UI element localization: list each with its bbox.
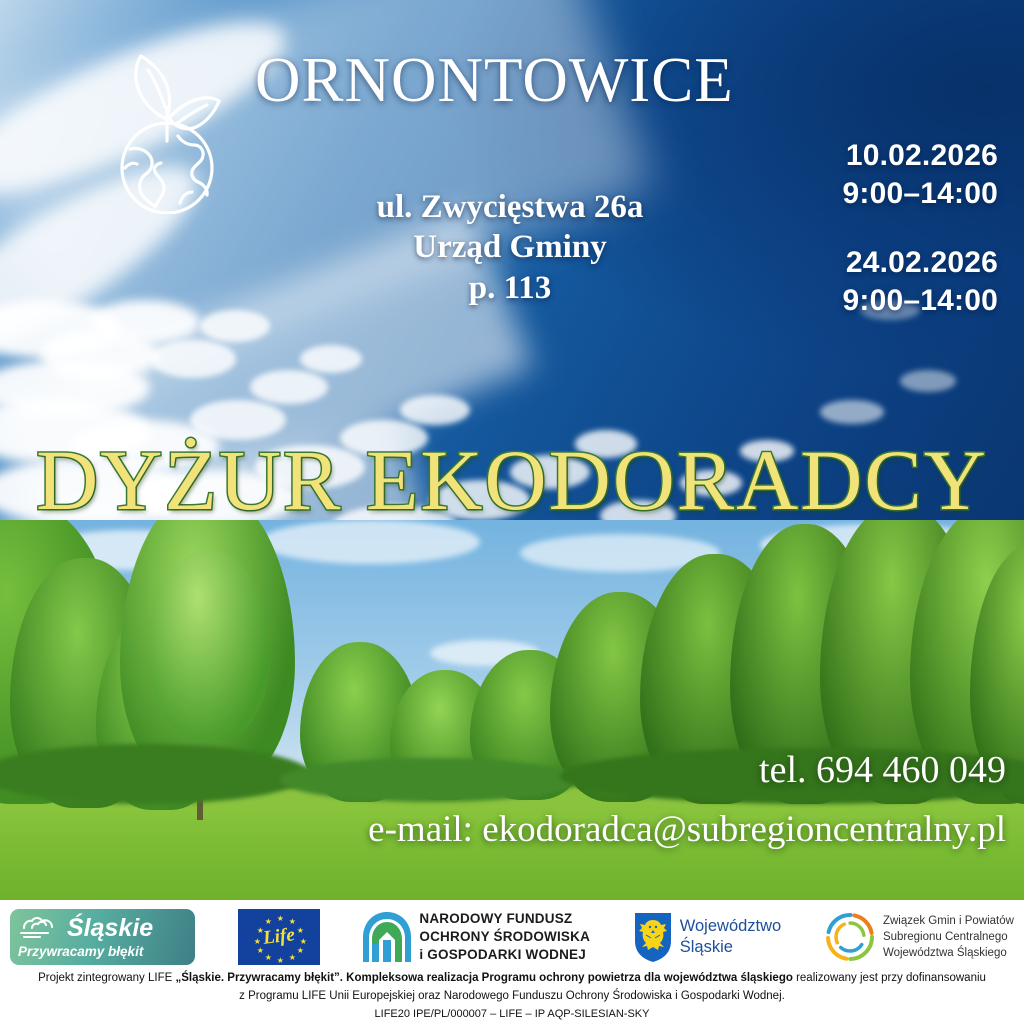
eu-life-logo-name: Life [262,924,296,950]
nfosigw-line-2: OCHRONY ŚRODOWISKA [419,928,590,946]
globe-sprout-icon [108,46,226,214]
schedule-spacer [698,214,998,244]
eu-life-logo: ★ ★ ★ ★ ★ ★ ★ ★ ★ ★ ★ ★ Life [238,909,320,965]
wojewodztwo-line-2: Śląskie [680,937,782,958]
slaskie-logo-name: Śląskie [67,916,153,941]
legal-line-2: z Programu LIFE Unii Europejskiej oraz N… [0,988,1024,1006]
wojewodztwo-line-1: Województwo [680,916,782,937]
address-line-1: ul. Zwycięstwa 26a [300,187,720,227]
logo-strip: Śląskie Przywracamy błękit ★ ★ ★ ★ ★ ★ ★… [0,904,1024,970]
legal-line-1-b: „Śląskie. Przywracamy błękit”. Komplekso… [175,972,792,984]
nfosigw-mark-icon [362,910,412,964]
zwiazek-circle-icon [824,911,876,963]
footer: Śląskie Przywracamy błękit ★ ★ ★ ★ ★ ★ ★… [0,900,1024,1024]
address-line-3: p. 113 [300,268,720,308]
silesian-eagle-shield-icon [633,911,673,963]
address-block: ul. Zwycięstwa 26a Urząd Gminy p. 113 [300,187,720,308]
wojewodztwo-slaskie-logo: Województwo Śląskie [633,911,782,963]
schedule-block: 10.02.2026 9:00–14:00 24.02.2026 9:00–14… [698,137,998,321]
email-address: e-mail: ekodoradca@subregioncentralny.pl [368,808,1006,851]
poster: ORNONTOWICE ul. Zwycięstwa 26a Urząd Gmi… [0,0,1024,1024]
zwiazek-line-2: Subregionu Centralnego [883,929,1014,945]
phone-number: tel. 694 460 049 [759,748,1006,792]
page-title: ORNONTOWICE [255,44,734,117]
schedule-hours-2: 9:00–14:00 [698,282,998,320]
schedule-hours-1: 9:00–14:00 [698,175,998,213]
zwiazek-line-3: Województwa Śląskiego [883,945,1014,961]
address-line-2: Urząd Gminy [300,227,720,267]
zwiazek-gmin-logo: Związek Gmin i Powiatów Subregionu Centr… [824,911,1014,963]
legal-line-1: Projekt zintegrowany LIFE „Śląskie. Przy… [0,970,1024,988]
cloud-icon [18,915,62,941]
zwiazek-line-1: Związek Gmin i Powiatów [883,913,1014,929]
schedule-date-1: 10.02.2026 [698,137,998,175]
slaskie-logo-tagline: Przywracamy błękit [18,945,195,959]
legal-line-3: LIFE20 IPE/PL/000007 – LIFE – IP AQP-SIL… [0,1006,1024,1024]
headline: DYŻUR EKODORADCY [0,430,1024,530]
legal-line-1-c: realizowany jest przy dofinansowaniu [793,972,986,984]
legal-text: Projekt zintegrowany LIFE „Śląskie. Przy… [0,970,1024,1023]
schedule-date-2: 24.02.2026 [698,244,998,282]
nfosigw-line-1: NARODOWY FUNDUSZ [419,910,590,928]
legal-line-1-a: Projekt zintegrowany LIFE [38,972,175,984]
nfosigw-line-3: i GOSPODARKI WODNEJ [419,946,590,964]
slaskie-logo: Śląskie Przywracamy błękit [10,909,195,965]
nfosigw-logo: NARODOWY FUNDUSZ OCHRONY ŚRODOWISKA i GO… [362,910,590,965]
